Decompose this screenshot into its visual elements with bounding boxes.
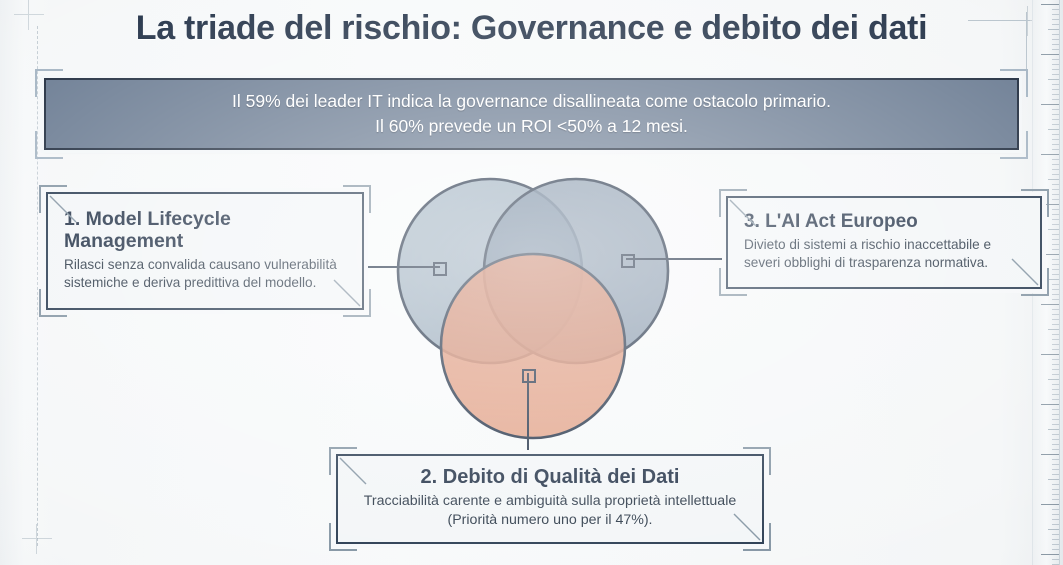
banner-line-1: Il 59% dei leader IT indica la governanc…	[232, 91, 831, 111]
ruler-tick	[1052, 434, 1059, 435]
ruler-tick	[1052, 514, 1059, 515]
ruler-tick	[1052, 159, 1059, 160]
ruler-tick	[1052, 394, 1059, 395]
ruler-tick	[1052, 374, 1059, 375]
card-data-quality-debt[interactable]: 2. Debito di Qualità dei Dati Tracciabil…	[336, 454, 764, 544]
ruler-tick	[1052, 224, 1059, 225]
ruler-tick	[1041, 504, 1059, 505]
bracket-top-right	[743, 447, 771, 475]
ruler-tick	[1052, 549, 1059, 550]
ruler-tick	[1052, 509, 1059, 510]
bracket-top-left	[329, 447, 357, 475]
ruler-tick	[1048, 379, 1059, 380]
ruler-tick	[1041, 354, 1059, 355]
ruler-tick	[1041, 454, 1059, 455]
ruler-tick	[1052, 534, 1059, 535]
ruler-tick	[1052, 364, 1059, 365]
connector-node-card1	[433, 262, 447, 276]
card-body: Rilasci senza convalida causano vulnerab…	[64, 256, 346, 292]
ruler-tick	[1052, 49, 1059, 50]
ruler-tick	[1052, 109, 1059, 110]
ruler-tick	[1052, 314, 1059, 315]
ruler-tick	[1041, 554, 1059, 555]
bracket-bottom-right	[743, 523, 771, 551]
ruler-tick	[1052, 144, 1059, 145]
ruler-tick	[1052, 119, 1059, 120]
ruler-tick	[1052, 284, 1059, 285]
bracket-top-left	[719, 189, 747, 217]
bracket-bottom-left	[39, 289, 67, 317]
ruler-tick	[1048, 329, 1059, 330]
ruler-tick	[1052, 424, 1059, 425]
bracket-top-right	[343, 185, 371, 213]
banner-line-2: Il 60% prevede un ROI <50% a 12 mesi.	[375, 116, 688, 136]
ruler-tick	[1052, 309, 1059, 310]
ruler-tick	[1052, 559, 1059, 560]
ruler-tick	[1052, 249, 1059, 250]
ruler-tick	[1052, 294, 1059, 295]
banner-text: Il 59% dei leader IT indica la governanc…	[214, 89, 849, 139]
ruler-tick	[1048, 279, 1059, 280]
ruler-tick	[1048, 229, 1059, 230]
ruler-tick	[1052, 69, 1059, 70]
ruler-tick	[1041, 54, 1059, 55]
ruler-tick	[1052, 444, 1059, 445]
ruler-tick	[1052, 464, 1059, 465]
ruler-tick	[1048, 429, 1059, 430]
ruler-tick	[1052, 64, 1059, 65]
ruler-tick	[1052, 199, 1059, 200]
ruler-tick	[1052, 134, 1059, 135]
ruler-tick	[1041, 104, 1059, 105]
ruler-tick	[1052, 489, 1059, 490]
ruler-tick	[1052, 114, 1059, 115]
ruler-tick	[1052, 349, 1059, 350]
ruler-tick	[1052, 174, 1059, 175]
ruler-tick	[1052, 344, 1059, 345]
ruler-tick	[1052, 544, 1059, 545]
ruler-tick	[1052, 499, 1059, 500]
card-title: 3. L'AI Act Europeo	[744, 211, 1025, 233]
ruler-tick	[1052, 124, 1059, 125]
card-title: 2. Debito di Qualità dei Dati	[354, 466, 746, 489]
ruler-tick	[1041, 204, 1059, 205]
ruler-tick	[1052, 59, 1059, 60]
ruler-tick	[1052, 339, 1059, 340]
ruler-tick	[1041, 304, 1059, 305]
connector-line-card2	[527, 373, 529, 457]
ruler-tick	[1052, 264, 1059, 265]
ruler-tick	[1048, 179, 1059, 180]
ruler-tick	[1048, 529, 1059, 530]
ruler-tick	[1052, 184, 1059, 185]
connector-line-card3	[626, 258, 730, 260]
ruler-tick	[1052, 214, 1059, 215]
card-title: 1. Model Lifecycle Management	[64, 208, 346, 253]
ruler-tick	[1052, 369, 1059, 370]
ruler-tick	[1052, 84, 1059, 85]
infographic-canvas: La triade del rischio: Governance e debi…	[0, 0, 1063, 565]
venn-diagram	[383, 168, 683, 448]
ruler-tick	[1052, 419, 1059, 420]
card-model-lifecycle[interactable]: 1. Model Lifecycle Management Rilasci se…	[46, 192, 364, 310]
statistics-banner: Il 59% dei leader IT indica la governanc…	[44, 78, 1019, 150]
ruler-tick	[1052, 169, 1059, 170]
ruler-tick	[1052, 494, 1059, 495]
ruler-tick	[1052, 539, 1059, 540]
ruler-tick	[1052, 274, 1059, 275]
ruler-tick	[1052, 439, 1059, 440]
ruler-tick	[1052, 319, 1059, 320]
ruler-tick	[1052, 414, 1059, 415]
ruler-tick	[1052, 519, 1059, 520]
venn-circle-data-quality	[441, 254, 625, 438]
ruler-tick	[1052, 269, 1059, 270]
ruler-tick	[1052, 89, 1059, 90]
ruler-tick	[1052, 459, 1059, 460]
card-body: Tracciabilità carente e ambiguità sulla …	[354, 492, 746, 530]
bracket-bottom-right	[343, 289, 371, 317]
banner-box: Il 59% dei leader IT indica la governanc…	[44, 78, 1019, 150]
ruler-tick	[1052, 149, 1059, 150]
ruler-tick	[1041, 404, 1059, 405]
ruler-tick	[1048, 79, 1059, 80]
ruler-tick	[1052, 299, 1059, 300]
ruler-tick	[1041, 154, 1059, 155]
ruler-tick	[1052, 469, 1059, 470]
dashed-guide-line	[37, 26, 38, 546]
ruler-tick	[1052, 409, 1059, 410]
ruler-tick	[1048, 129, 1059, 130]
ruler-tick	[1052, 189, 1059, 190]
ruler-tick	[1052, 234, 1059, 235]
ruler-tick	[1052, 524, 1059, 525]
bracket-bottom-left	[329, 523, 357, 551]
ruler-tick	[1041, 254, 1059, 255]
bracket-top-left	[39, 185, 67, 213]
connector-node-card2	[522, 369, 536, 383]
card-body: Divieto di sistemi a rischio inaccettabi…	[744, 236, 1025, 272]
ruler-tick	[1052, 94, 1059, 95]
ruler-tick	[1052, 324, 1059, 325]
ruler-tick	[1052, 194, 1059, 195]
ruler-tick	[1052, 384, 1059, 385]
ruler-tick	[1052, 99, 1059, 100]
ruler-tick	[1052, 259, 1059, 260]
ruler-tick	[1052, 334, 1059, 335]
ruler-tick	[1052, 484, 1059, 485]
ruler-tick	[1052, 74, 1059, 75]
ruler-tick	[1052, 219, 1059, 220]
page-title: La triade del rischio: Governance e debi…	[0, 9, 1063, 48]
ruler-tick	[1052, 239, 1059, 240]
ruler-tick	[1052, 359, 1059, 360]
ruler-tick	[1052, 139, 1059, 140]
venn-svg	[383, 168, 683, 448]
ruler-tick	[1052, 449, 1059, 450]
ruler-spine	[1059, 0, 1060, 565]
ruler-tick	[1048, 479, 1059, 480]
ruler-tick	[1052, 399, 1059, 400]
ruler-tick	[1052, 474, 1059, 475]
bracket-bottom-left	[719, 268, 747, 296]
crosshair-mark-bottom-left	[22, 524, 52, 554]
ruler-tick	[1052, 164, 1059, 165]
ruler-tick	[1052, 289, 1059, 290]
card-ai-act[interactable]: 3. L'AI Act Europeo Divieto di sistemi a…	[726, 196, 1042, 289]
ruler-tick	[1052, 389, 1059, 390]
connector-node-card3	[621, 254, 635, 268]
ruler-tick	[1052, 209, 1059, 210]
ruler-tick	[1041, 4, 1059, 5]
ruler-tick	[1052, 244, 1059, 245]
